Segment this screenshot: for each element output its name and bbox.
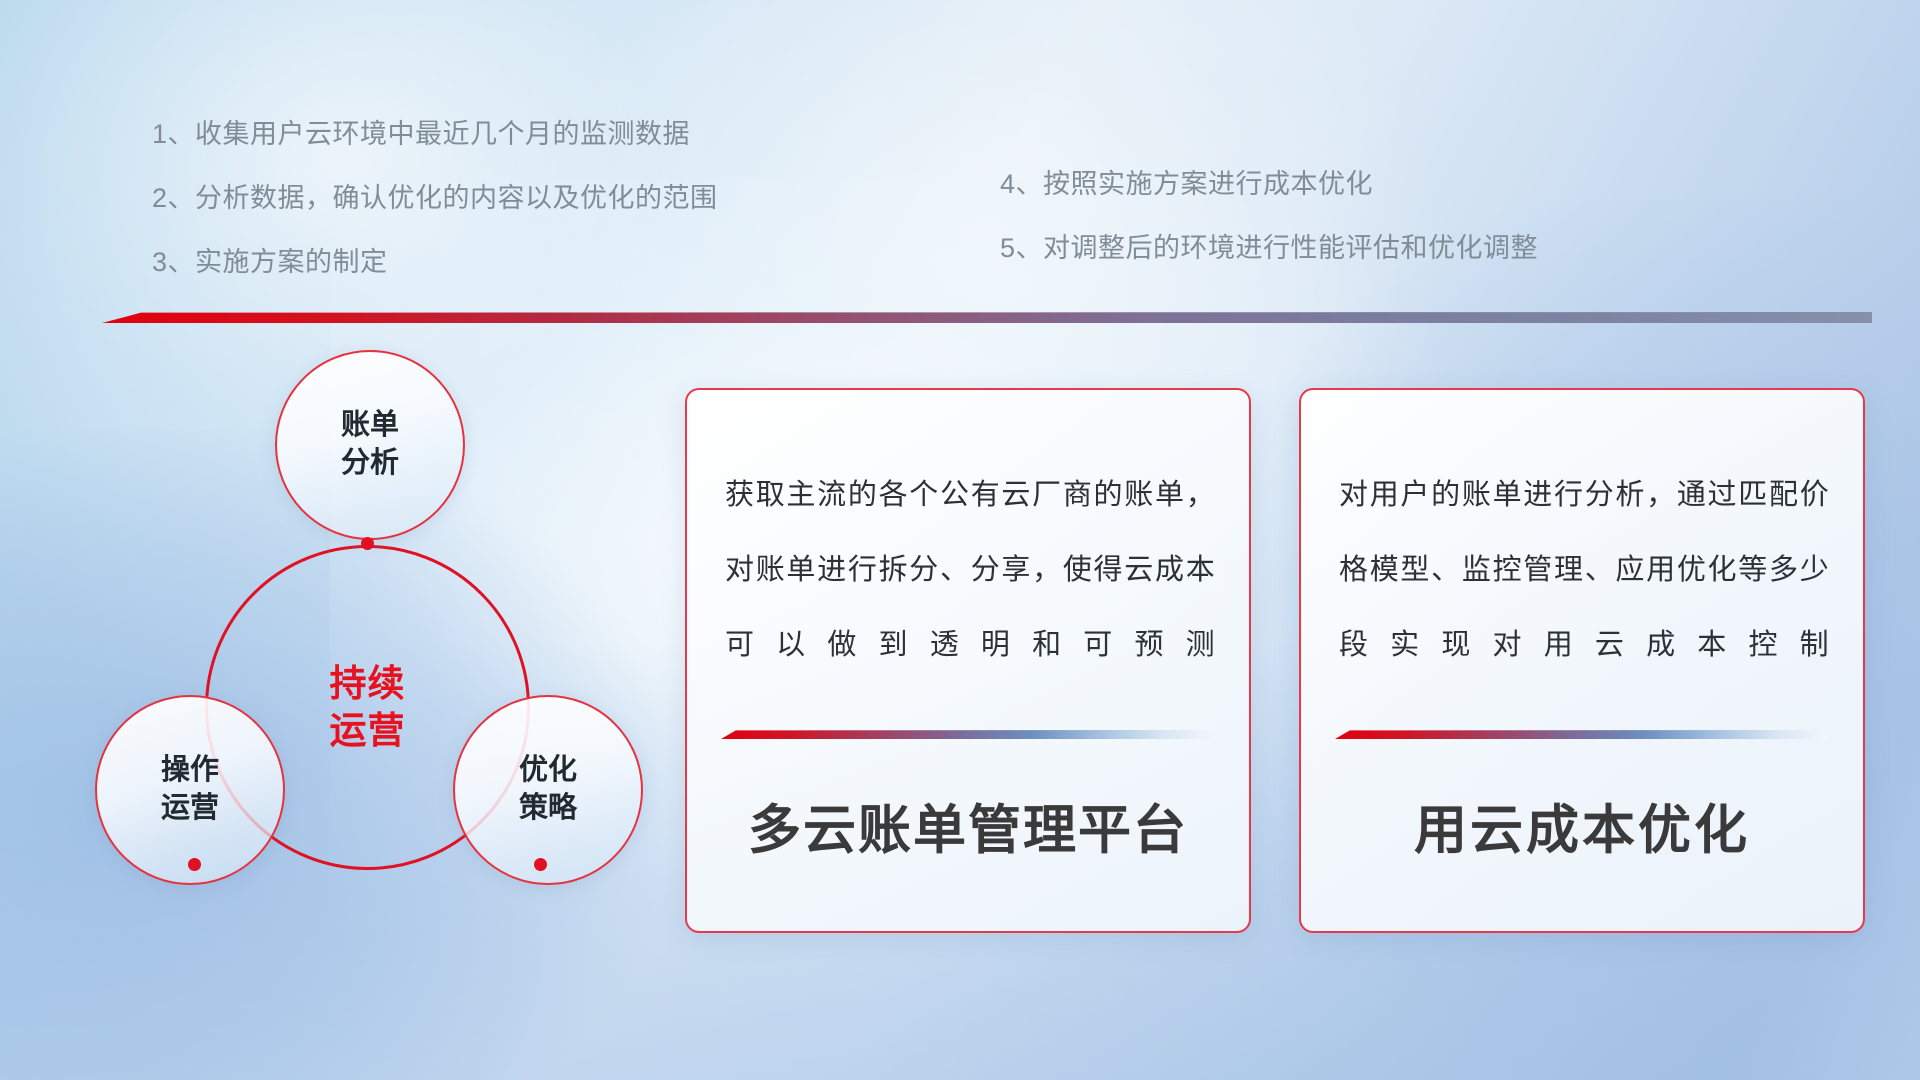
info-card-billing-platform[interactable]: 获取主流的各个公有云厂商的账单，对账单进行拆分、分享，使得云成本可以做到透明和可…: [685, 388, 1251, 933]
info-card-billing-platform-rule-bar: [721, 730, 1213, 739]
info-card-cost-optimization-rule-bar: [1335, 730, 1827, 739]
diagram-node-optimization-policy-line1: 优化: [519, 752, 577, 790]
step-item-2: 2、分析数据，确认优化的内容以及优化的范围: [152, 166, 718, 230]
step-item-5: 5、对调整后的环境进行性能评估和优化调整: [1000, 216, 1538, 280]
diagram-node-billing-analysis[interactable]: 账单 分析: [275, 350, 465, 540]
info-card-billing-platform-title: 多云账单管理平台: [687, 788, 1249, 864]
diagram-center-label-line2: 运营: [330, 708, 406, 754]
diagram-node-optimization-policy[interactable]: 优化 策略: [453, 695, 643, 885]
step-item-1: 1、收集用户云环境中最近几个月的监测数据: [152, 102, 718, 166]
diagram-node-billing-analysis-line2: 分析: [341, 445, 399, 483]
slide-canvas: 1、收集用户云环境中最近几个月的监测数据 2、分析数据，确认优化的内容以及优化的…: [0, 0, 1920, 1080]
info-card-cost-optimization[interactable]: 对用户的账单进行分析，通过匹配价格模型、监控管理、应用优化等多少段实现对用云成本…: [1299, 388, 1865, 933]
info-card-cost-optimization-title: 用云成本优化: [1301, 788, 1863, 864]
diagram-connector-dot-left: [188, 858, 201, 871]
step-item-3: 3、实施方案的制定: [152, 230, 718, 294]
diagram-node-billing-analysis-line1: 账单: [341, 407, 399, 445]
step-item-4: 4、按照实施方案进行成本优化: [1000, 152, 1538, 216]
diagram-node-optimization-policy-line2: 策略: [519, 790, 577, 828]
diagram-connector-dot-right: [534, 858, 547, 871]
diagram-node-operations[interactable]: 操作 运营: [95, 695, 285, 885]
info-card-cost-optimization-rule: [1335, 730, 1827, 739]
steps-list-left: 1、收集用户云环境中最近几个月的监测数据 2、分析数据，确认优化的内容以及优化的…: [152, 102, 718, 294]
diagram-connector-dot-top: [361, 537, 374, 550]
info-card-billing-platform-body: 获取主流的各个公有云厂商的账单，对账单进行拆分、分享，使得云成本可以做到透明和可…: [725, 458, 1215, 683]
info-card-billing-platform-rule: [721, 730, 1213, 739]
diagram-node-operations-line1: 操作: [161, 752, 219, 790]
section-divider-bar: [102, 312, 1872, 323]
diagram-center-label-line1: 持续: [330, 661, 406, 707]
continuous-operation-diagram: 持续 运营 账单 分析 操作 运营 优化 策略: [95, 350, 635, 950]
steps-list-right: 4、按照实施方案进行成本优化 5、对调整后的环境进行性能评估和优化调整: [1000, 152, 1538, 280]
diagram-node-operations-line2: 运营: [161, 790, 219, 828]
info-card-cost-optimization-body: 对用户的账单进行分析，通过匹配价格模型、监控管理、应用优化等多少段实现对用云成本…: [1339, 458, 1829, 683]
section-divider: [102, 312, 1872, 323]
